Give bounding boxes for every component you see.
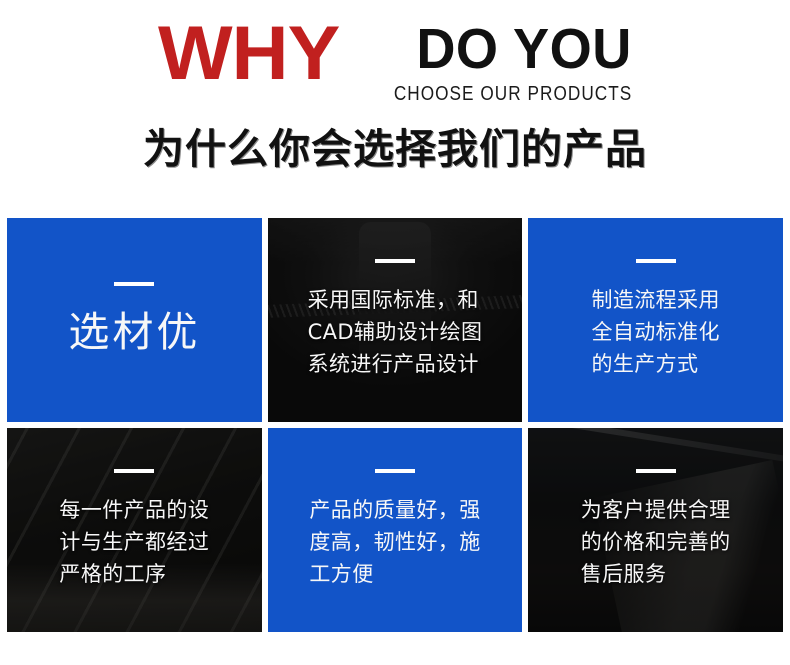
divider-icon [114, 282, 154, 286]
banner-header: WHY DO YOU CHOOSE OUR PRODUCTS 为什么你会选择我们… [0, 0, 790, 210]
headline-chinese-subtitle: 为什么你会选择我们的产品 [0, 126, 790, 173]
feature-card-5[interactable]: 产品的质量好，强 度高，韧性好，施 工方便 [268, 428, 523, 632]
feature-card-1-content: 选材优 [7, 282, 262, 357]
feature-card-2-text: 采用国际标准，和 CAD辅助设计绘图 系统进行产品设计 [308, 285, 483, 381]
feature-card-4-content: 每一件产品的设 计与生产都经过 严格的工序 [7, 469, 262, 591]
divider-icon [636, 259, 676, 263]
divider-icon [375, 469, 415, 473]
feature-card-2-content: 采用国际标准，和 CAD辅助设计绘图 系统进行产品设计 [268, 259, 523, 381]
feature-card-3[interactable]: 制造流程采用 全自动标准化 的生产方式 [528, 218, 783, 422]
feature-card-1[interactable]: 选材优 [7, 218, 262, 422]
feature-card-6-text: 为客户提供合理 的价格和完善的 售后服务 [581, 495, 731, 591]
feature-card-6-content: 为客户提供合理 的价格和完善的 售后服务 [528, 469, 783, 591]
headline-right-group: DO YOU CHOOSE OUR PRODUCTS [355, 18, 632, 106]
feature-card-3-text: 制造流程采用 全自动标准化 的生产方式 [591, 285, 719, 381]
feature-card-4[interactable]: 每一件产品的设 计与生产都经过 严格的工序 [7, 428, 262, 632]
divider-icon [375, 259, 415, 263]
feature-card-6[interactable]: 为客户提供合理 的价格和完善的 售后服务 [528, 428, 783, 632]
feature-card-5-content: 产品的质量好，强 度高，韧性好，施 工方便 [268, 469, 523, 591]
headline-tagline: CHOOSE OUR PRODUCTS [393, 83, 631, 106]
feature-card-5-text: 产品的质量好，强 度高，韧性好，施 工方便 [309, 495, 480, 591]
feature-card-1-text: 选材优 [68, 308, 200, 357]
headline-row: WHY DO YOU CHOOSE OUR PRODUCTS [0, 18, 790, 106]
divider-icon [636, 469, 676, 473]
feature-card-2[interactable]: 采用国际标准，和 CAD辅助设计绘图 系统进行产品设计 [268, 218, 523, 422]
feature-card-4-text: 每一件产品的设 计与生产都经过 严格的工序 [59, 495, 209, 591]
feature-grid: 选材优 采用国际标准，和 CAD辅助设计绘图 系统进行产品设计 制造流程采用 全… [7, 218, 783, 632]
headline-secondary: DO YOU [416, 21, 631, 78]
headline-primary: WHY [158, 18, 339, 90]
feature-card-3-content: 制造流程采用 全自动标准化 的生产方式 [528, 259, 783, 381]
divider-icon [114, 469, 154, 473]
promo-banner: WHY DO YOU CHOOSE OUR PRODUCTS 为什么你会选择我们… [0, 0, 790, 665]
